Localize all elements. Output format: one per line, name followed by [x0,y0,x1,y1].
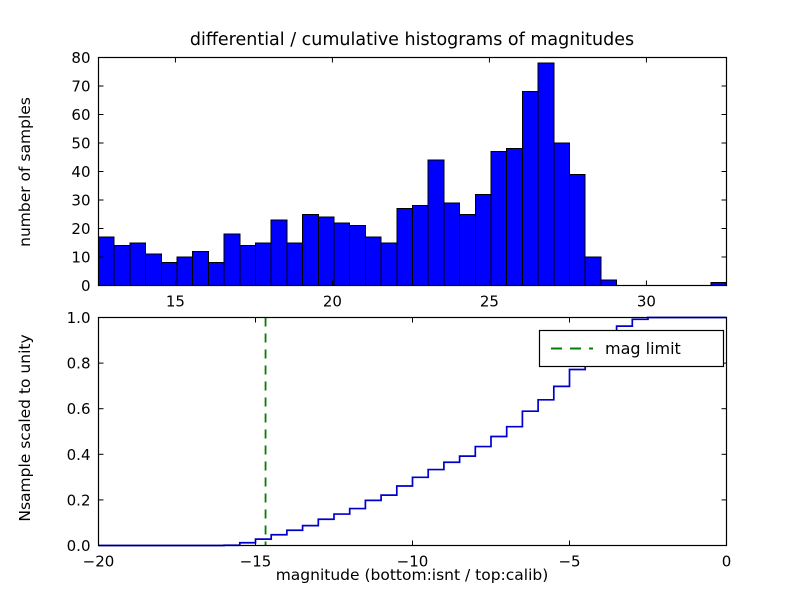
histogram-bar [114,246,130,286]
top-yticklabel: 30 [71,192,90,210]
histogram-bar [99,237,115,285]
histogram-bar [287,243,303,286]
top-yticklabel: 60 [71,106,90,124]
top-yticklabel: 50 [71,135,90,153]
figure-canvas: differential / cumulative histograms of … [0,0,800,600]
histogram-bar [193,251,209,285]
histogram-bar [271,220,287,286]
top-yticklabel: 10 [71,249,90,267]
histogram-bar [381,243,397,286]
matplotlib-figure: differential / cumulative histograms of … [0,0,800,600]
bottom-yticklabel: 1.0 [67,309,91,327]
histogram-bar [460,214,476,285]
histogram-bar [208,263,224,286]
bottom-xticklabel: −15 [240,553,272,571]
histogram-bar [256,243,272,286]
top-xticklabel: 25 [480,293,499,311]
histogram-bar [413,206,429,286]
bottom-yticklabel: 0.6 [67,400,91,418]
top-xticklabel: 15 [166,293,185,311]
legend-label-mag-limit: mag limit [605,339,681,358]
histogram-bar [365,237,381,285]
bottom-xticklabel: −10 [397,553,429,571]
histogram-bar [491,152,507,286]
top-yticklabel: 70 [71,78,90,96]
top-yticklabel: 0 [81,277,91,295]
top-axes: differential / cumulative histograms of … [16,30,727,311]
histogram-bar [507,149,523,286]
bottom-yticklabel: 0.4 [67,446,91,464]
bottom-axes: Nsample scaled to unity magnitude (botto… [16,309,731,584]
page-title: differential / cumulative histograms of … [190,30,634,50]
histogram-bar [428,160,444,285]
histogram-bar [303,214,319,285]
histogram-bar [585,257,601,286]
histogram-bar [318,217,334,285]
bottom-xticklabel: −20 [83,553,115,571]
bottom-xticklabel: 0 [722,553,732,571]
histogram-bar [240,246,256,286]
histogram-bar [601,280,617,286]
top-yticklabel: 20 [71,220,90,238]
histogram-bar [146,254,162,285]
histogram-bar [224,234,240,285]
histogram-bar [177,257,193,286]
top-xticklabel: 20 [323,293,342,311]
top-xticklabel: 30 [637,293,656,311]
histogram-bar [130,243,146,286]
bottom-yticklabel: 0.8 [67,355,91,373]
legend[interactable]: mag limit [540,331,724,367]
top-ylabel: number of samples [16,97,34,247]
histogram-bar [334,223,350,286]
histogram-bar [570,174,586,285]
bottom-xticklabel: −5 [558,553,580,571]
histogram-bar [397,209,413,286]
histogram-bar [161,263,177,286]
histogram-bar [475,194,491,285]
top-yticklabel: 40 [71,163,90,181]
histogram-bar [538,63,554,285]
histogram-bars [99,63,727,285]
histogram-bar [350,226,366,286]
bottom-ylabel: Nsample scaled to unity [16,334,34,521]
histogram-bar [522,92,538,286]
top-yticklabel: 80 [71,49,90,67]
histogram-bar [444,203,460,286]
histogram-bar [554,143,570,286]
bottom-yticklabel: 0.2 [67,491,91,509]
